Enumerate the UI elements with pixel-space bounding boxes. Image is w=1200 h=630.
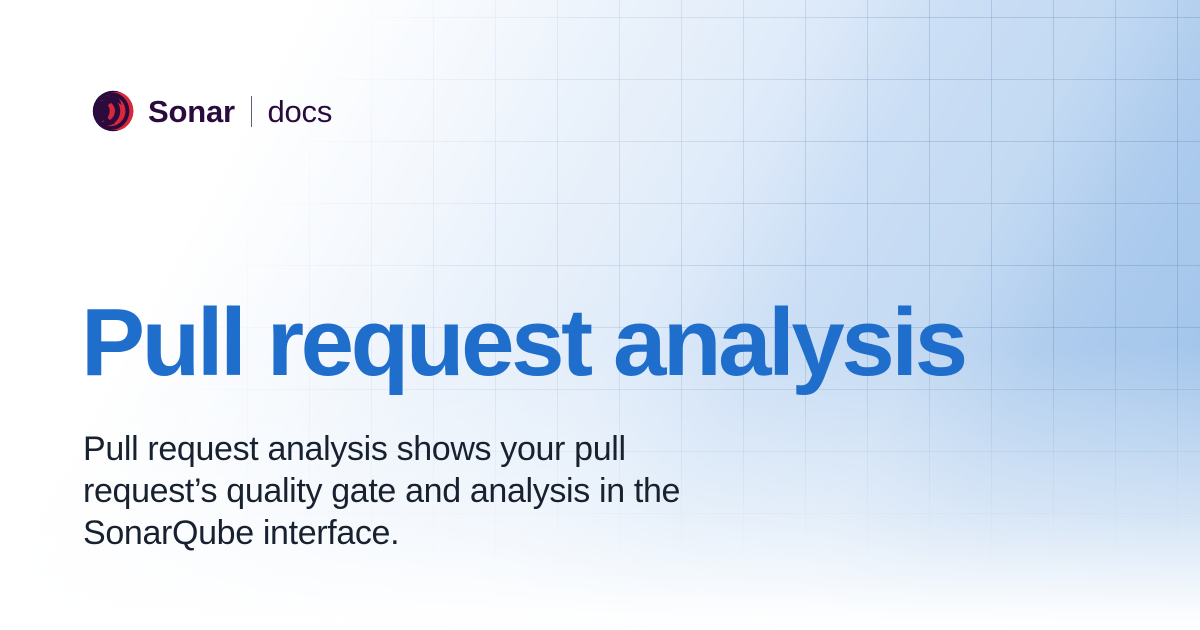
page-description: Pull request analysis shows your pull re… [83,428,843,554]
brand-wordmark: Sonar docs [148,96,332,127]
brand-product-label: docs [267,96,332,127]
brand-divider [251,96,253,127]
description-line-2: request’s quality gate and analysis in t… [83,470,843,512]
brand-lockup[interactable]: Sonar docs [92,88,332,134]
brand-name: Sonar [148,96,235,127]
sonar-logo-icon [92,90,134,132]
og-card: Sonar docs Pull request analysis Pull re… [0,0,1200,630]
page-title: Pull request analysis [81,295,965,391]
description-line-3: SonarQube interface. [83,512,843,554]
description-line-1: Pull request analysis shows your pull [83,428,843,470]
